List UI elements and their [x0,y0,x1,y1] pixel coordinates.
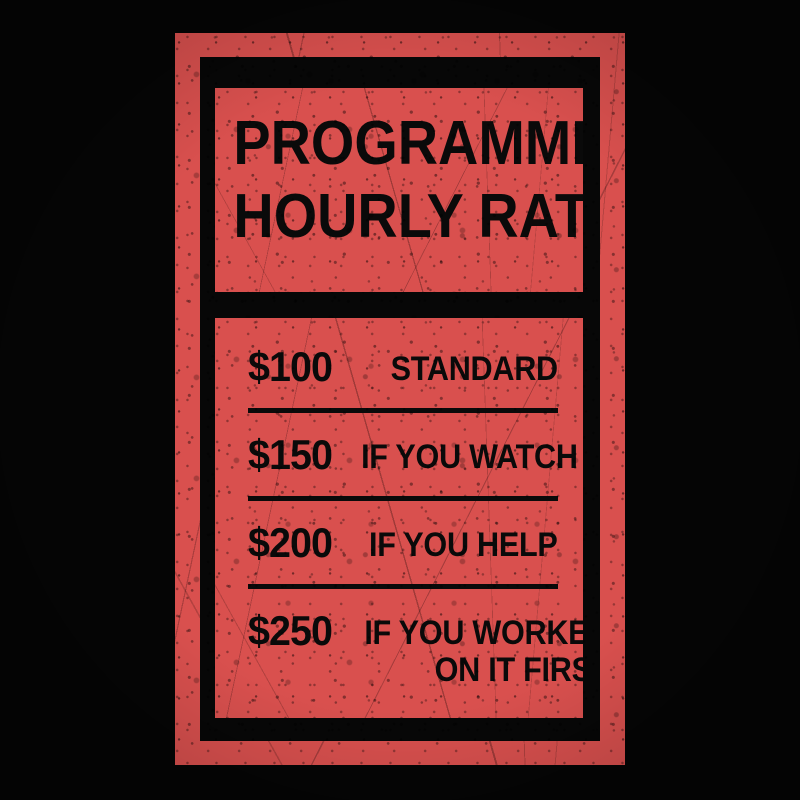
rate-row: $100 STANDARD [248,346,558,388]
poster-canvas: PROGRAMMER HOURLY RATE $100 STANDARD $15… [0,0,800,800]
rate-divider [248,584,558,589]
rate-label: IF YOU WORKED ON IT FIRST [365,610,583,688]
rate-label-line-1: IF YOU HELP [369,526,558,564]
rate-divider [248,496,558,501]
rate-label: IF YOU WATCH [362,434,579,476]
rate-label: STANDARD [391,346,558,388]
rate-label: IF YOU HELP [369,522,558,564]
rates-panel: $100 STANDARD $150 IF YOU WATCH $200 IF … [215,318,583,718]
title-line-2: HOURLY RATE [233,187,564,248]
rate-price: $250 [248,610,332,652]
rate-row: $200 IF YOU HELP [248,522,558,564]
rate-label-line-1: IF YOU WORKED [365,614,583,652]
rate-label-line-1: STANDARD [391,350,558,388]
poster-title: PROGRAMMER HOURLY RATE [215,114,583,248]
rate-price: $200 [248,522,332,564]
rate-row: $150 IF YOU WATCH [248,434,558,476]
rate-price: $150 [248,434,332,476]
title-panel: PROGRAMMER HOURLY RATE [215,88,583,292]
rate-label-line-2: ON IT FIRST [365,652,583,689]
rate-row: $250 IF YOU WORKED ON IT FIRST [248,610,558,688]
rate-divider [248,408,558,413]
rate-price: $100 [248,346,332,388]
rate-label-line-1: IF YOU WATCH [362,438,579,476]
title-line-1: PROGRAMMER [233,114,564,175]
